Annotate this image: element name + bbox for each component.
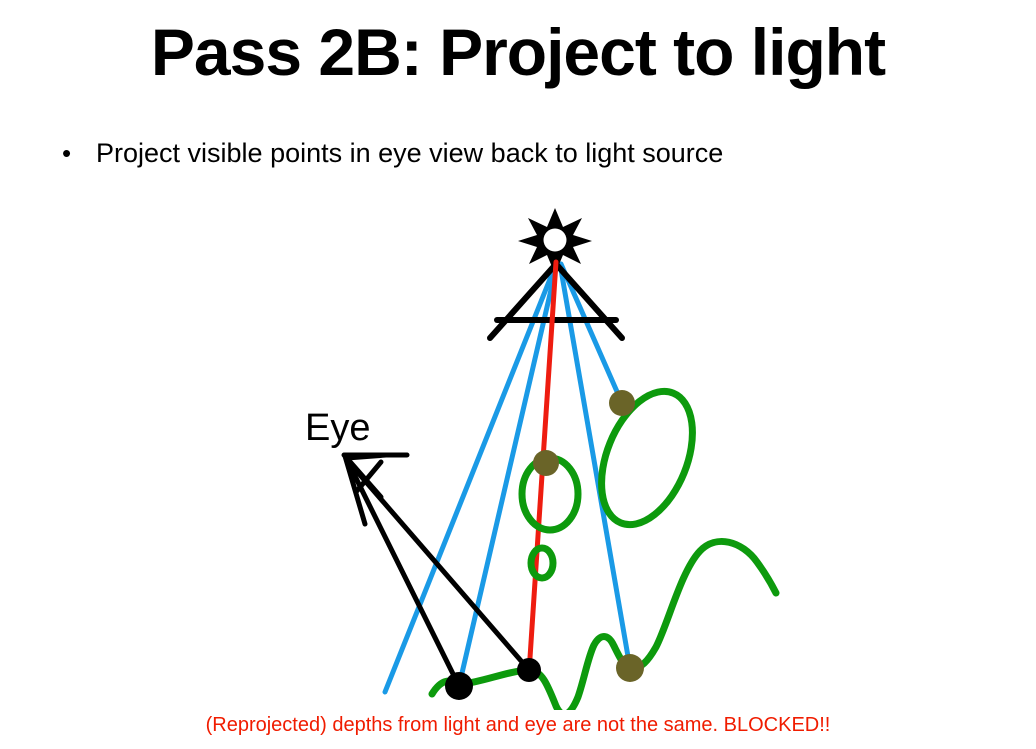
caption-text: (Reprojected) depths from light and eye … [0,712,1036,738]
visible-point-center [517,658,541,682]
slide: Pass 2B: Project to light • Project visi… [0,0,1036,749]
bullet-marker-icon: • [62,136,96,170]
blocked-point-upper-right [609,390,635,416]
shadow-map-diagram: Eye [0,180,1036,710]
geometry-terrain-curve [432,541,776,710]
light-ray-group [385,264,630,692]
blocked-point-middle [533,450,559,476]
eye-label: Eye [305,407,370,449]
visible-point-left [445,672,473,700]
bullet-item: • Project visible points in eye view bac… [62,136,1002,170]
geometry-circle-small [531,548,553,578]
blocked-point-right [616,654,644,682]
scene-geometry [432,378,776,710]
page-title: Pass 2B: Project to light [0,14,1036,90]
bullet-text: Project visible points in eye view back … [96,136,723,170]
